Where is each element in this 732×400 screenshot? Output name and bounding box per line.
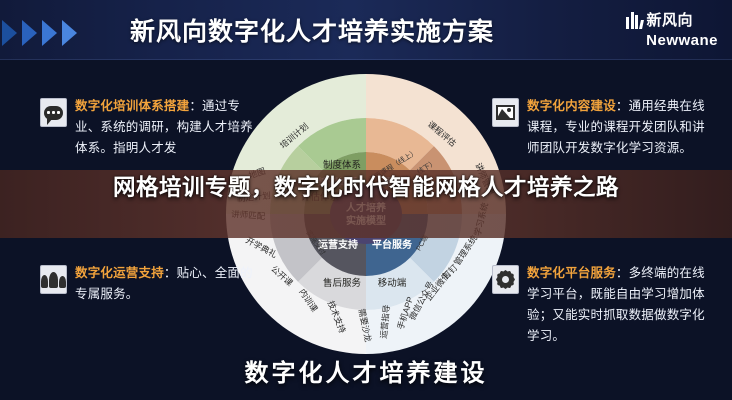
card-platform-service-text: 数字化平台服务：多终端的在线学习平台，既能自由学习增加体验；又能实时抓取数据做数…: [527, 263, 710, 347]
slide-canvas: 新风向数字化人才培养实施方案 新风向 Newwane .lblS{font-fa…: [0, 0, 732, 400]
card-content-construction[interactable]: 数字化内容建设：通用经典在线课程，专业的课程开发团队和讲师团队开发数字化学习资源…: [492, 96, 710, 159]
bars-logo-icon: [626, 12, 643, 29]
card-operations-support[interactable]: 数字化运营支持：贴心、全面的专属服务。: [40, 263, 258, 305]
logo-en-text: Newwane: [626, 31, 718, 50]
card-operations-support-heading: 数字化运营支持: [75, 266, 164, 280]
sep: ：: [616, 99, 629, 113]
header-bar: 新风向数字化人才培养实施方案 新风向 Newwane: [0, 0, 732, 60]
card-content-construction-text: 数字化内容建设：通用经典在线课程，专业的课程开发团队和讲师团队开发数字化学习资源…: [527, 96, 710, 159]
page-title: 新风向数字化人才培养实施方案: [130, 12, 494, 48]
card-content-construction-heading: 数字化内容建设: [527, 99, 616, 113]
chevron-right-icon: [2, 20, 97, 46]
card-operations-support-text: 数字化运营支持：贴心、全面的专属服务。: [75, 263, 258, 305]
overlay-title: 网格培训专题，数字化时代智能网格人才培养之路: [0, 172, 732, 203]
card-training-system-heading: 数字化培训体系搭建: [75, 99, 189, 113]
middle-label-aftersales: 售后服务: [323, 277, 362, 289]
brand-logo: 新风向 Newwane: [626, 10, 718, 52]
inner-label-platform: 平台服务: [372, 238, 413, 251]
gear-icon: [492, 265, 519, 294]
speech-bubble-icon: [40, 98, 67, 127]
people-icon: [40, 265, 67, 294]
sep: ：: [616, 266, 629, 280]
card-training-system[interactable]: 数字化培训体系搭建：通过专业、系统的调研，构建人才培养体系。指明人才发: [40, 96, 258, 159]
bottom-caption: 数字化人才培养建设: [0, 353, 732, 388]
card-platform-service[interactable]: 数字化平台服务：多终端的在线学习平台，既能自由学习增加体验；又能实时抓取数据做数…: [492, 263, 710, 347]
middle-label-mobile: 移动端: [378, 277, 407, 289]
card-platform-service-heading: 数字化平台服务: [527, 266, 616, 280]
sep: ：: [189, 99, 202, 113]
picture-icon: [492, 98, 519, 127]
sep: ：: [164, 266, 177, 280]
card-training-system-text: 数字化培训体系搭建：通过专业、系统的调研，构建人才培养体系。指明人才发: [75, 96, 258, 159]
logo-cn-text: 新风向: [647, 12, 694, 29]
